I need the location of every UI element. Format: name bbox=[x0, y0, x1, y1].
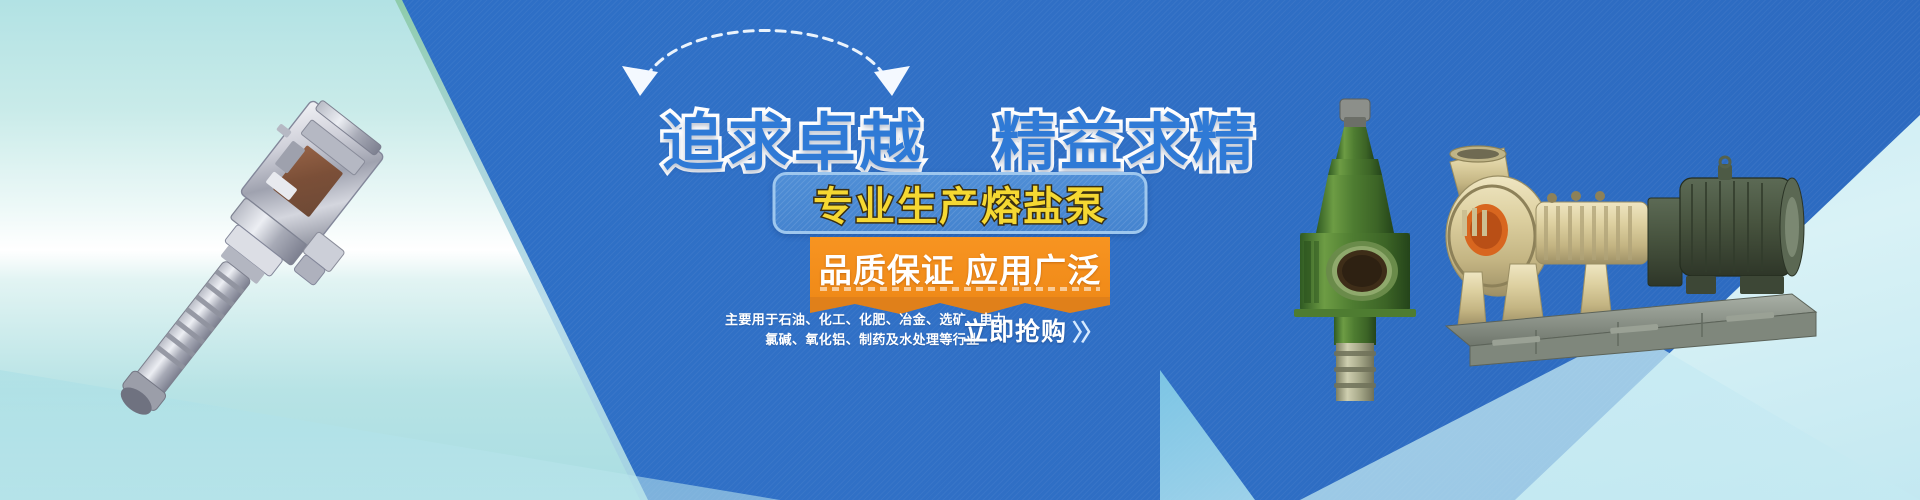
molten-salt-pump-shaft-icon bbox=[248, 110, 548, 420]
promo-banner: 追求卓越 精益求精 专业生产熔盐泵 品质保证 应用广泛 主要用于石油、化工、化肥… bbox=[0, 0, 1920, 500]
vertical-green-pump-icon bbox=[1290, 95, 1420, 405]
dashed-arc-arrow-icon bbox=[600, 0, 930, 102]
horizontal-pump-skid-icon bbox=[1440, 140, 1820, 370]
